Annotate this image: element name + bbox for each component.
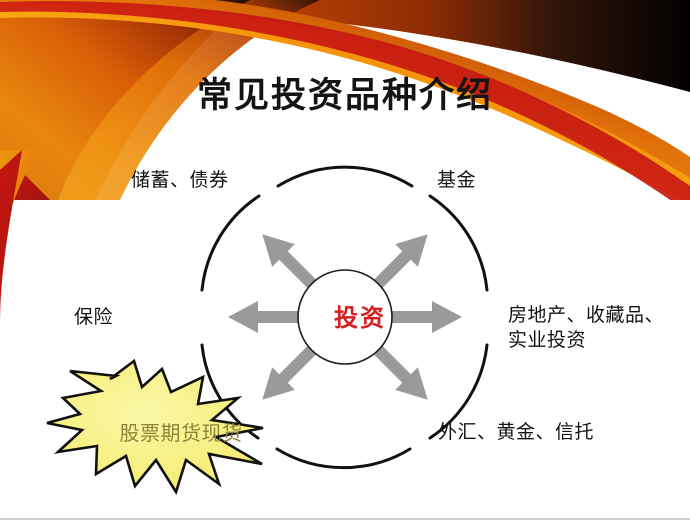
presentation-slide: 常见投资品种介绍: [0, 0, 690, 520]
spoke-label-savings: 储蓄、债券: [131, 168, 229, 193]
page-title: 常见投资品种介绍: [0, 67, 690, 118]
arrow-left: [228, 301, 302, 333]
spoke-label-forex: 外汇、黄金、信托: [438, 420, 594, 445]
spoke-label-fund: 基金: [437, 168, 476, 193]
spoke-label-insurance: 保险: [74, 305, 113, 330]
center-hub-label: 投资: [310, 298, 410, 333]
spoke-label-property: 房地产、收藏品、 实业投资: [508, 303, 664, 353]
starburst-callout-label: 股票期货现货: [96, 417, 266, 446]
